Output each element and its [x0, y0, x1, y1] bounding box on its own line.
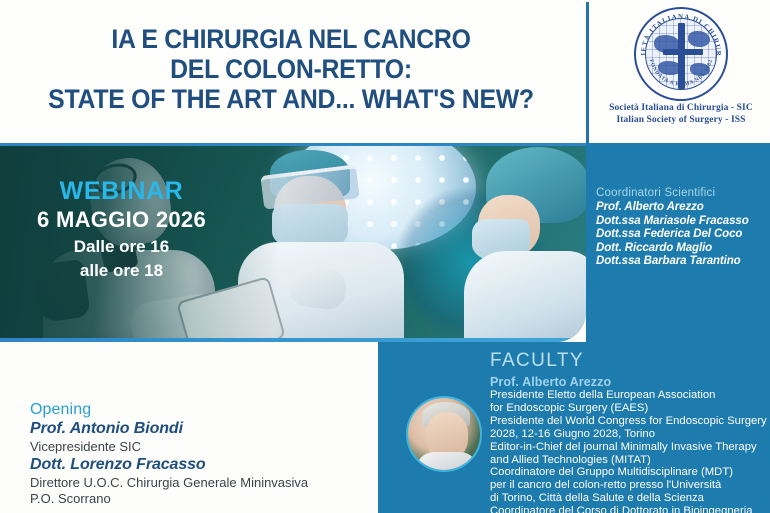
faculty-bio-line: per il cancro del colon-retto presso l'U…: [490, 479, 768, 492]
coordinator-item: Dott.ssa Federica Del Coco: [596, 228, 768, 242]
coordinator-item: Prof. Alberto Arezzo: [596, 201, 768, 215]
sic-seal-icon: SOCIETÀ ITALIANA DI CHIRURGIA FONDATA A …: [634, 7, 728, 101]
seal-ring-text-icon: SOCIETÀ ITALIANA DI CHIRURGIA FONDATA A …: [636, 9, 726, 99]
webinar-info: WEBINAR 6 MAGGIO 2026 Dalle ore 16 alle …: [14, 177, 229, 283]
faculty-bio-line: Editor-in-Chief del journal Minimally In…: [490, 441, 768, 454]
svg-text:FONDATA A ROMA NEL 1882: FONDATA A ROMA NEL 1882: [648, 59, 714, 88]
opening-speaker-role: Vicepresidente SIC: [30, 439, 378, 455]
page-title: IA E CHIRURGIA NEL CANCRO DEL COLON-RETT…: [0, 24, 582, 114]
title-line-2: DEL COLON-RETTO:: [23, 54, 558, 84]
poster-root: IA E CHIRURGIA NEL CANCRO DEL COLON-RETT…: [0, 0, 770, 513]
coordinators-panel: Coordinatori Scientifici Prof. Alberto A…: [586, 143, 770, 342]
logo-caption-en: Italian Society of Surgery - ISS: [592, 115, 770, 127]
logo-caption-it: Società Italiana di Chirurgia - SIC: [592, 103, 770, 115]
faculty-avatar: [406, 396, 482, 472]
faculty-bio-line: Coordinatore del Gruppo Multidisciplinar…: [490, 466, 768, 479]
webinar-time-to: alle ore 18: [14, 259, 229, 283]
faculty-heading: FACULTY: [490, 350, 584, 372]
webinar-label: WEBINAR: [14, 177, 229, 205]
coordinator-item: Dott.ssa Barbara Tarantino: [596, 255, 768, 269]
faculty-bio-line: di Torino, Città della Salute e della Sc…: [490, 492, 768, 505]
sic-logo-area: SOCIETÀ ITALIANA DI CHIRURGIA FONDATA A …: [592, 4, 770, 139]
webinar-date: 6 MAGGIO 2026: [14, 205, 229, 235]
faculty-bio: Presidente Eletto della European Associa…: [490, 389, 768, 513]
coordinator-item: Dott.ssa Mariasole Fracasso: [596, 215, 768, 229]
hero-image-band: WEBINAR 6 MAGGIO 2026 Dalle ore 16 alle …: [0, 143, 586, 342]
title-line-1: IA E CHIRURGIA NEL CANCRO: [23, 24, 558, 54]
faculty-bio-line: and Allied Technologies (MITAT): [490, 454, 768, 467]
coordinator-item: Dott. Riccardo Maglio: [596, 242, 768, 256]
faculty-bio-line: Presidente del World Congress for Endosc…: [490, 415, 768, 428]
avatar-collar: [416, 452, 478, 472]
faculty-bio-line: Coordinatore del Corso di Dottorato in B…: [490, 505, 768, 513]
faculty-bio-line: Presidente Eletto della European Associa…: [490, 389, 768, 402]
header-divider: [586, 2, 589, 143]
coordinators-list: Coordinatori Scientifici Prof. Alberto A…: [596, 186, 768, 269]
hero-top-rule: [0, 143, 586, 146]
opening-speaker-role: P.O. Scorrano: [30, 491, 378, 507]
webinar-time-from: Dalle ore 16: [14, 235, 229, 259]
opening-speaker-name: Prof. Antonio Biondi: [30, 419, 378, 439]
faculty-panel: FACULTY Prof. Alberto Arezzo Presidente …: [378, 342, 770, 513]
svg-text:SOCIETÀ ITALIANA DI CHIRURGIA: SOCIETÀ ITALIANA DI CHIRURGIA: [636, 9, 721, 57]
opening-section: Opening Prof. Antonio Biondi Vicepreside…: [30, 400, 378, 507]
coordinators-heading: Coordinatori Scientifici: [596, 186, 768, 200]
faculty-member-name: Prof. Alberto Arezzo: [490, 375, 611, 389]
title-line-3: STATE OF THE ART AND... WHAT'S NEW?: [23, 84, 558, 114]
faculty-bio-line: 2028, 12-16 Giugno 2028, Torino: [490, 428, 768, 441]
opening-heading: Opening: [30, 400, 378, 419]
header: IA E CHIRURGIA NEL CANCRO DEL COLON-RETT…: [0, 0, 770, 143]
faculty-bio-line: for Endoscopic Surgery (EAES): [490, 402, 768, 415]
opening-speaker-role: Direttore U.O.C. Chirurgia Generale Mini…: [30, 475, 378, 491]
opening-speaker-name: Dott. Lorenzo Fracasso: [30, 455, 378, 475]
